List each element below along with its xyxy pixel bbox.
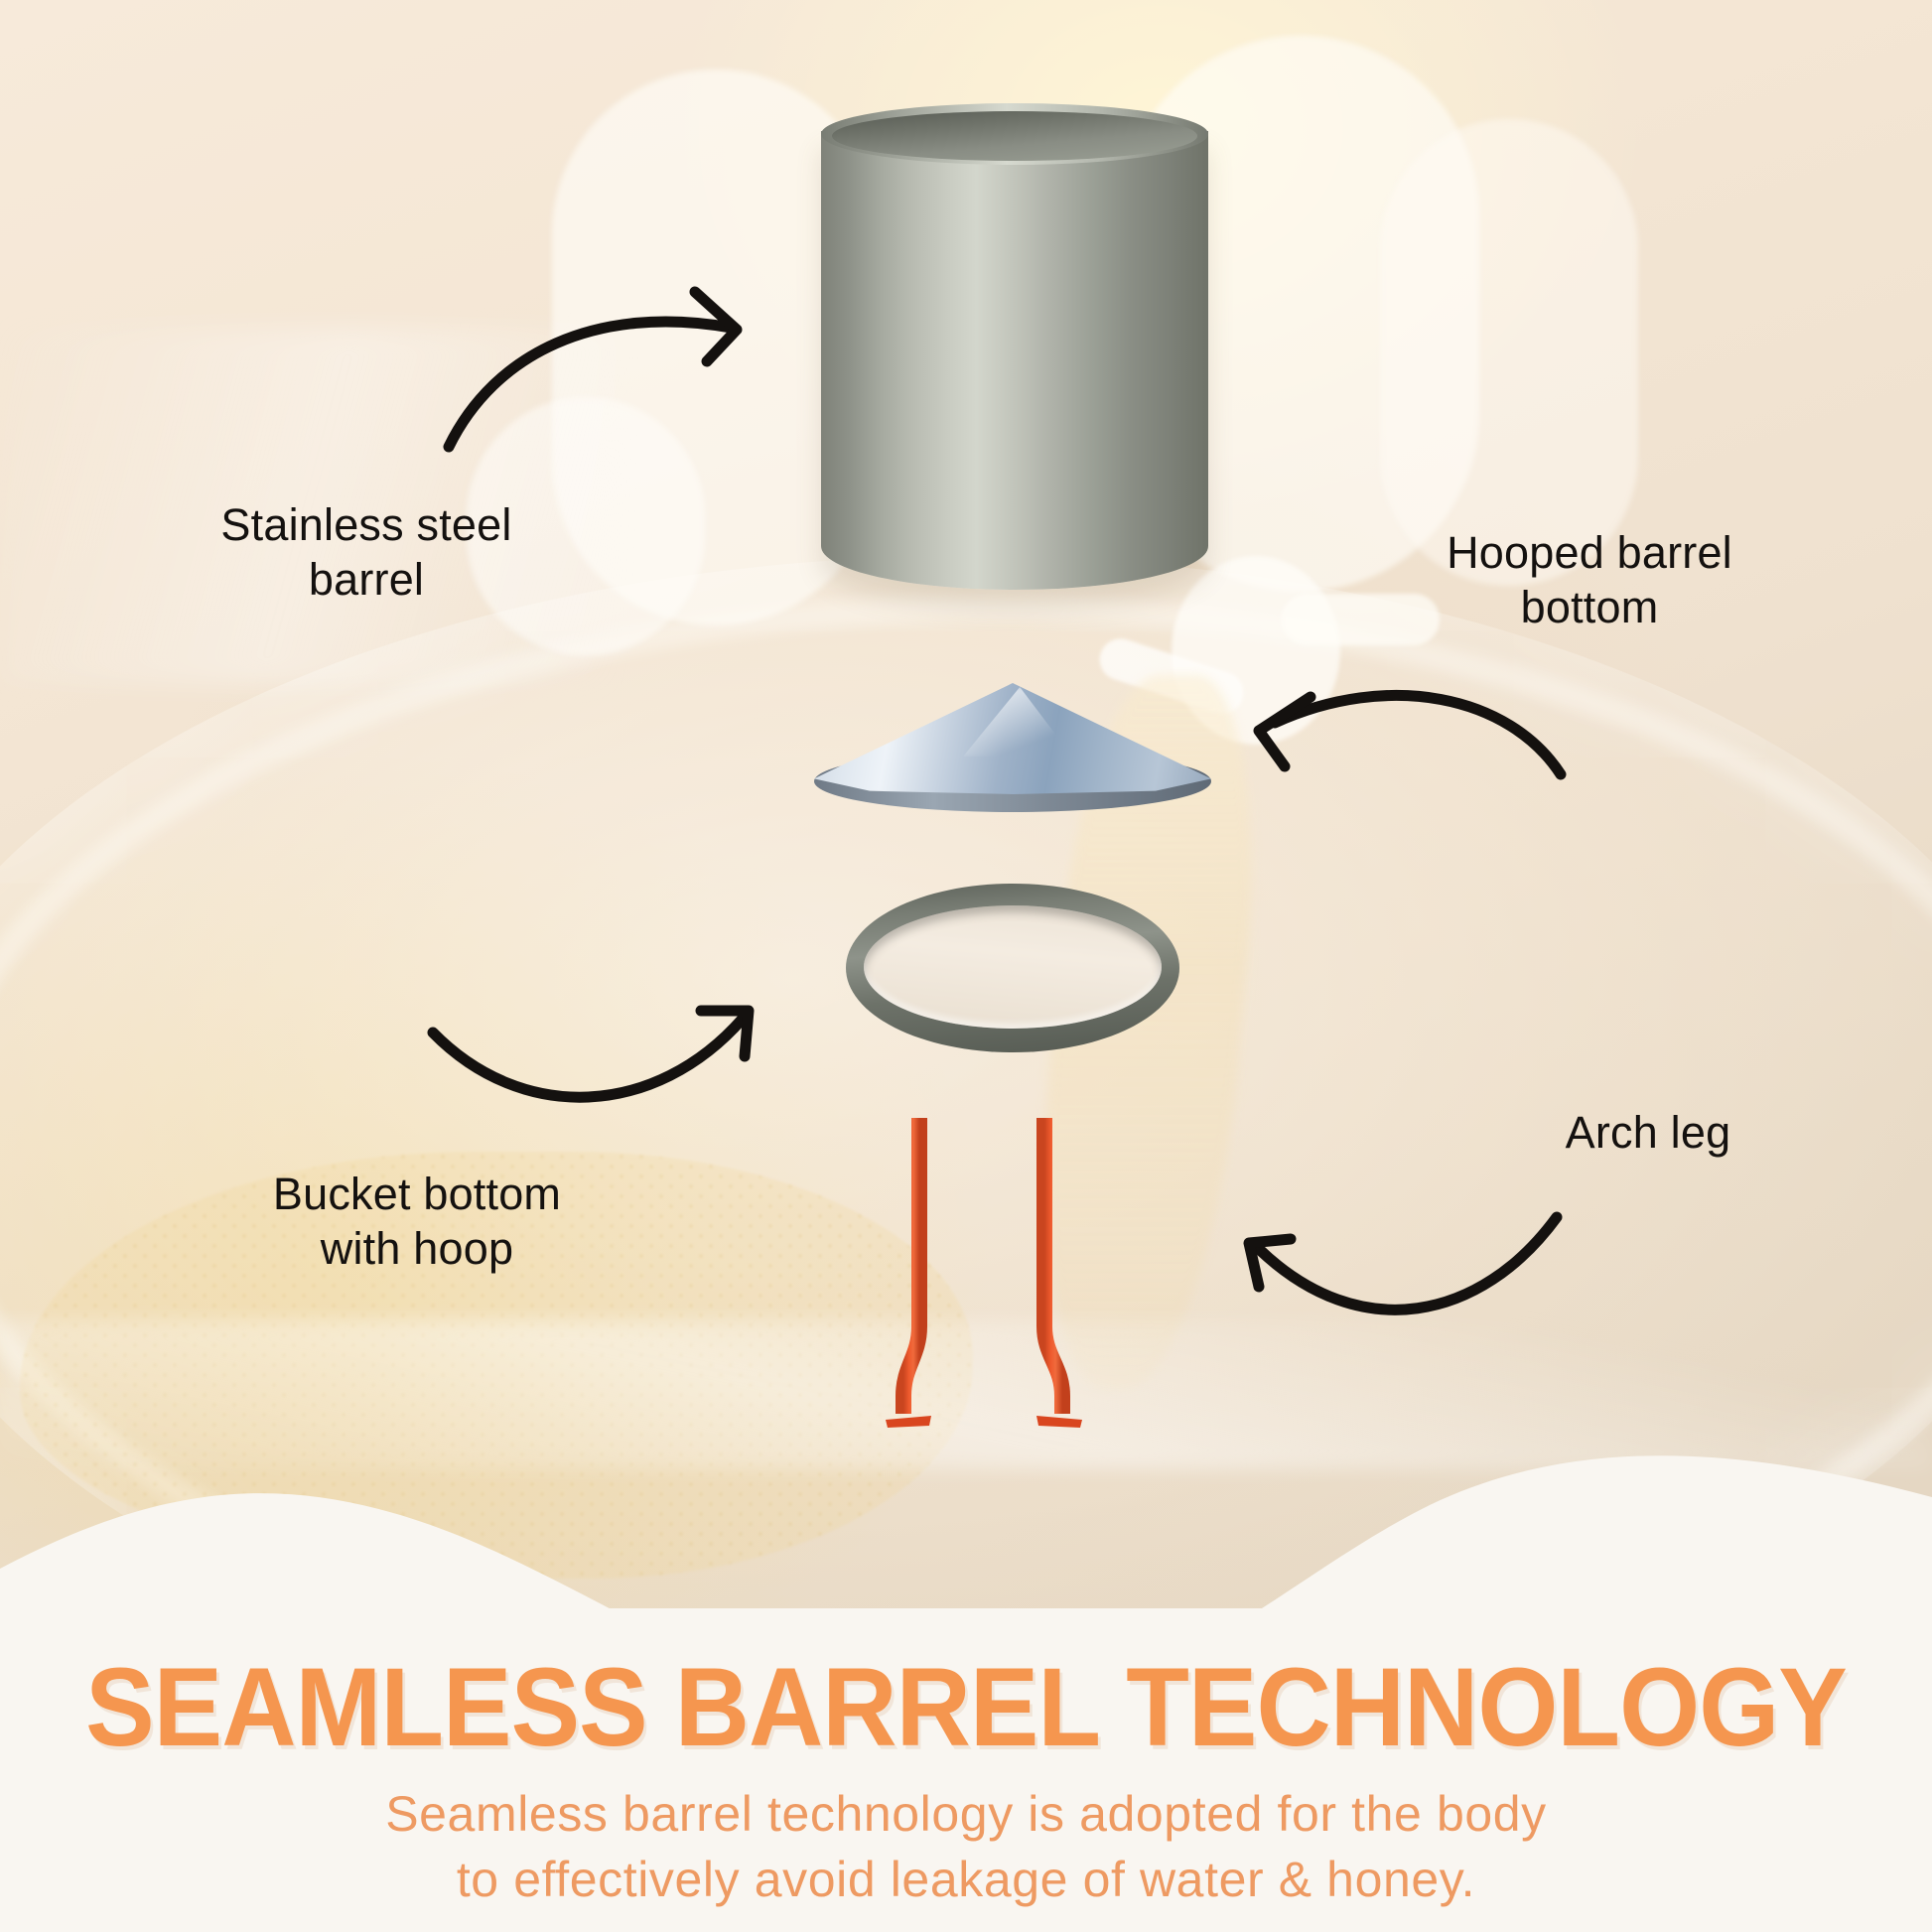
label-bucket-bottom-with-hoop: Bucket bottom with hoop bbox=[169, 1168, 665, 1277]
footer-subtitle: Seamless barrel technology is adopted fo… bbox=[0, 1781, 1932, 1912]
footer-section: SEAMLESS BARREL TECHNOLOGY Seamless barr… bbox=[0, 1652, 1932, 1912]
background-blob bbox=[1380, 119, 1638, 586]
arch-leg-left bbox=[886, 1118, 931, 1428]
barrel-rim-inner bbox=[832, 111, 1197, 161]
hooped-barrel-bottom-part bbox=[814, 683, 1211, 812]
bucket-bottom-hoop-part bbox=[846, 884, 1179, 1052]
footer-title: SEAMLESS BARREL TECHNOLOGY bbox=[68, 1652, 1864, 1763]
label-hooped-barrel-bottom: Hooped barrel bottom bbox=[1356, 526, 1823, 635]
arch-legs-part bbox=[874, 1112, 1112, 1440]
hoop-inner-hole bbox=[864, 905, 1162, 1029]
barrel-body bbox=[821, 131, 1208, 590]
wave-divider bbox=[0, 1420, 1932, 1678]
stainless-steel-barrel-part bbox=[821, 103, 1208, 610]
infographic-page: Stainless steel barrel Hooped barrel bot… bbox=[0, 0, 1932, 1932]
label-stainless-steel-barrel: Stainless steel barrel bbox=[133, 498, 600, 608]
label-arch-leg: Arch leg bbox=[1449, 1106, 1847, 1161]
arch-leg-right bbox=[1036, 1118, 1082, 1428]
